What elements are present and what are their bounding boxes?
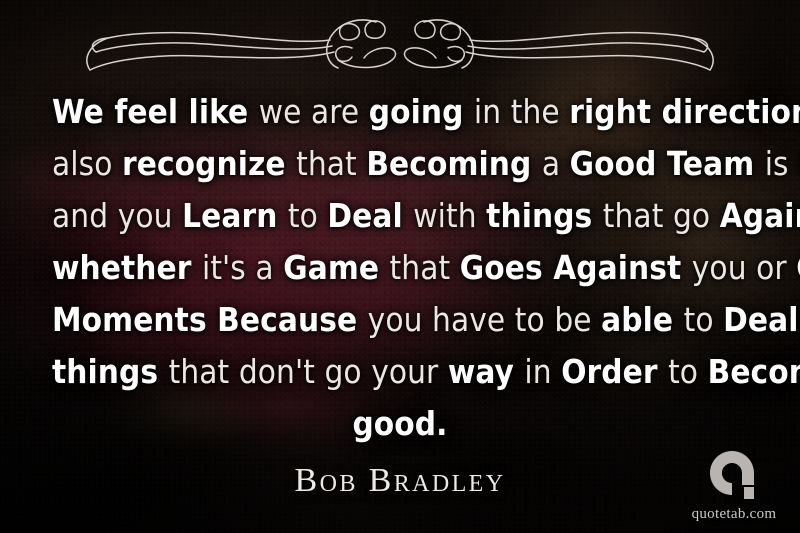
quote-keyword: going <box>369 92 474 131</box>
watermark[interactable]: quotetab.com <box>682 447 786 523</box>
quote-keyword: Order <box>561 352 668 391</box>
quote-author: Bob Bradley <box>0 462 800 500</box>
quote-keyword: Because <box>217 300 367 339</box>
quote-word: you have to be <box>368 300 602 339</box>
quote-keyword: feel <box>114 92 188 131</box>
watermark-label: quotetab.com <box>682 506 786 523</box>
quotetab-q-logo-icon <box>706 447 762 503</box>
quote-keyword: able <box>601 300 683 339</box>
quote-word: to <box>668 352 708 391</box>
quote-line: good. <box>52 398 748 450</box>
quote-word: with <box>413 196 486 235</box>
quote-word: a <box>542 144 570 183</box>
quote-keyword: Becoming <box>366 144 542 183</box>
quote-keyword: way <box>448 352 525 391</box>
quote-keyword: Against <box>553 248 692 287</box>
quote-line: things that don't go your way in Order t… <box>52 346 748 398</box>
quote-word: you or <box>692 248 796 287</box>
quote-word: that go <box>603 196 720 235</box>
quote-keyword: We <box>52 92 114 131</box>
quote-keyword: Deal <box>327 196 413 235</box>
quote-line: whether it's a Game that Goes Against yo… <box>52 242 748 294</box>
quote-word: that <box>296 144 366 183</box>
quote-keyword: Team <box>667 144 765 183</box>
quote-text: We feel like we are going in the right d… <box>52 86 748 450</box>
quote-word: is <box>765 144 798 183</box>
quote-keyword: direction. <box>662 92 800 131</box>
quote-keyword: Good <box>570 144 667 183</box>
quote-word: we are <box>259 92 369 131</box>
quote-card: We feel like we are going in the right d… <box>0 0 800 533</box>
quote-keyword: Become <box>708 352 800 391</box>
quote-word: that <box>390 248 460 287</box>
quote-keyword: recognize <box>122 144 296 183</box>
quote-word: to <box>684 300 724 339</box>
quote-content: We feel like we are going in the right d… <box>0 0 800 533</box>
quote-word: your <box>371 352 448 391</box>
flourish-divider-icon <box>80 8 720 78</box>
quote-word: and you <box>52 196 182 235</box>
quote-keyword: like <box>189 92 259 131</box>
quote-word: it's a <box>202 248 283 287</box>
quote-keyword: good. <box>352 404 447 443</box>
quote-keyword: right <box>569 92 661 131</box>
quote-keyword: things <box>486 196 603 235</box>
quote-line: We feel like we are going in the right d… <box>52 86 748 138</box>
quote-line: also recognize that Becoming a Good Team… <box>52 138 748 190</box>
quote-word: also <box>52 144 122 183</box>
quote-keyword: things <box>52 352 169 391</box>
quote-keyword: Against <box>720 196 800 235</box>
quote-word: to <box>288 196 328 235</box>
quote-line: Moments Because you have to be able to D… <box>52 294 748 346</box>
quote-word: that don't go <box>169 352 372 391</box>
quote-line: and you Learn to Deal with things that g… <box>52 190 748 242</box>
quote-keyword: Deal <box>723 300 800 339</box>
quote-keyword: Moments <box>52 300 217 339</box>
quote-keyword: Calls <box>796 248 800 287</box>
quote-keyword: Game <box>283 248 389 287</box>
quote-keyword: Learn <box>182 196 288 235</box>
quote-keyword: whether <box>52 248 202 287</box>
quote-word: in <box>524 352 561 391</box>
quote-word: in the <box>474 92 569 131</box>
quote-keyword: Goes <box>460 248 553 287</box>
